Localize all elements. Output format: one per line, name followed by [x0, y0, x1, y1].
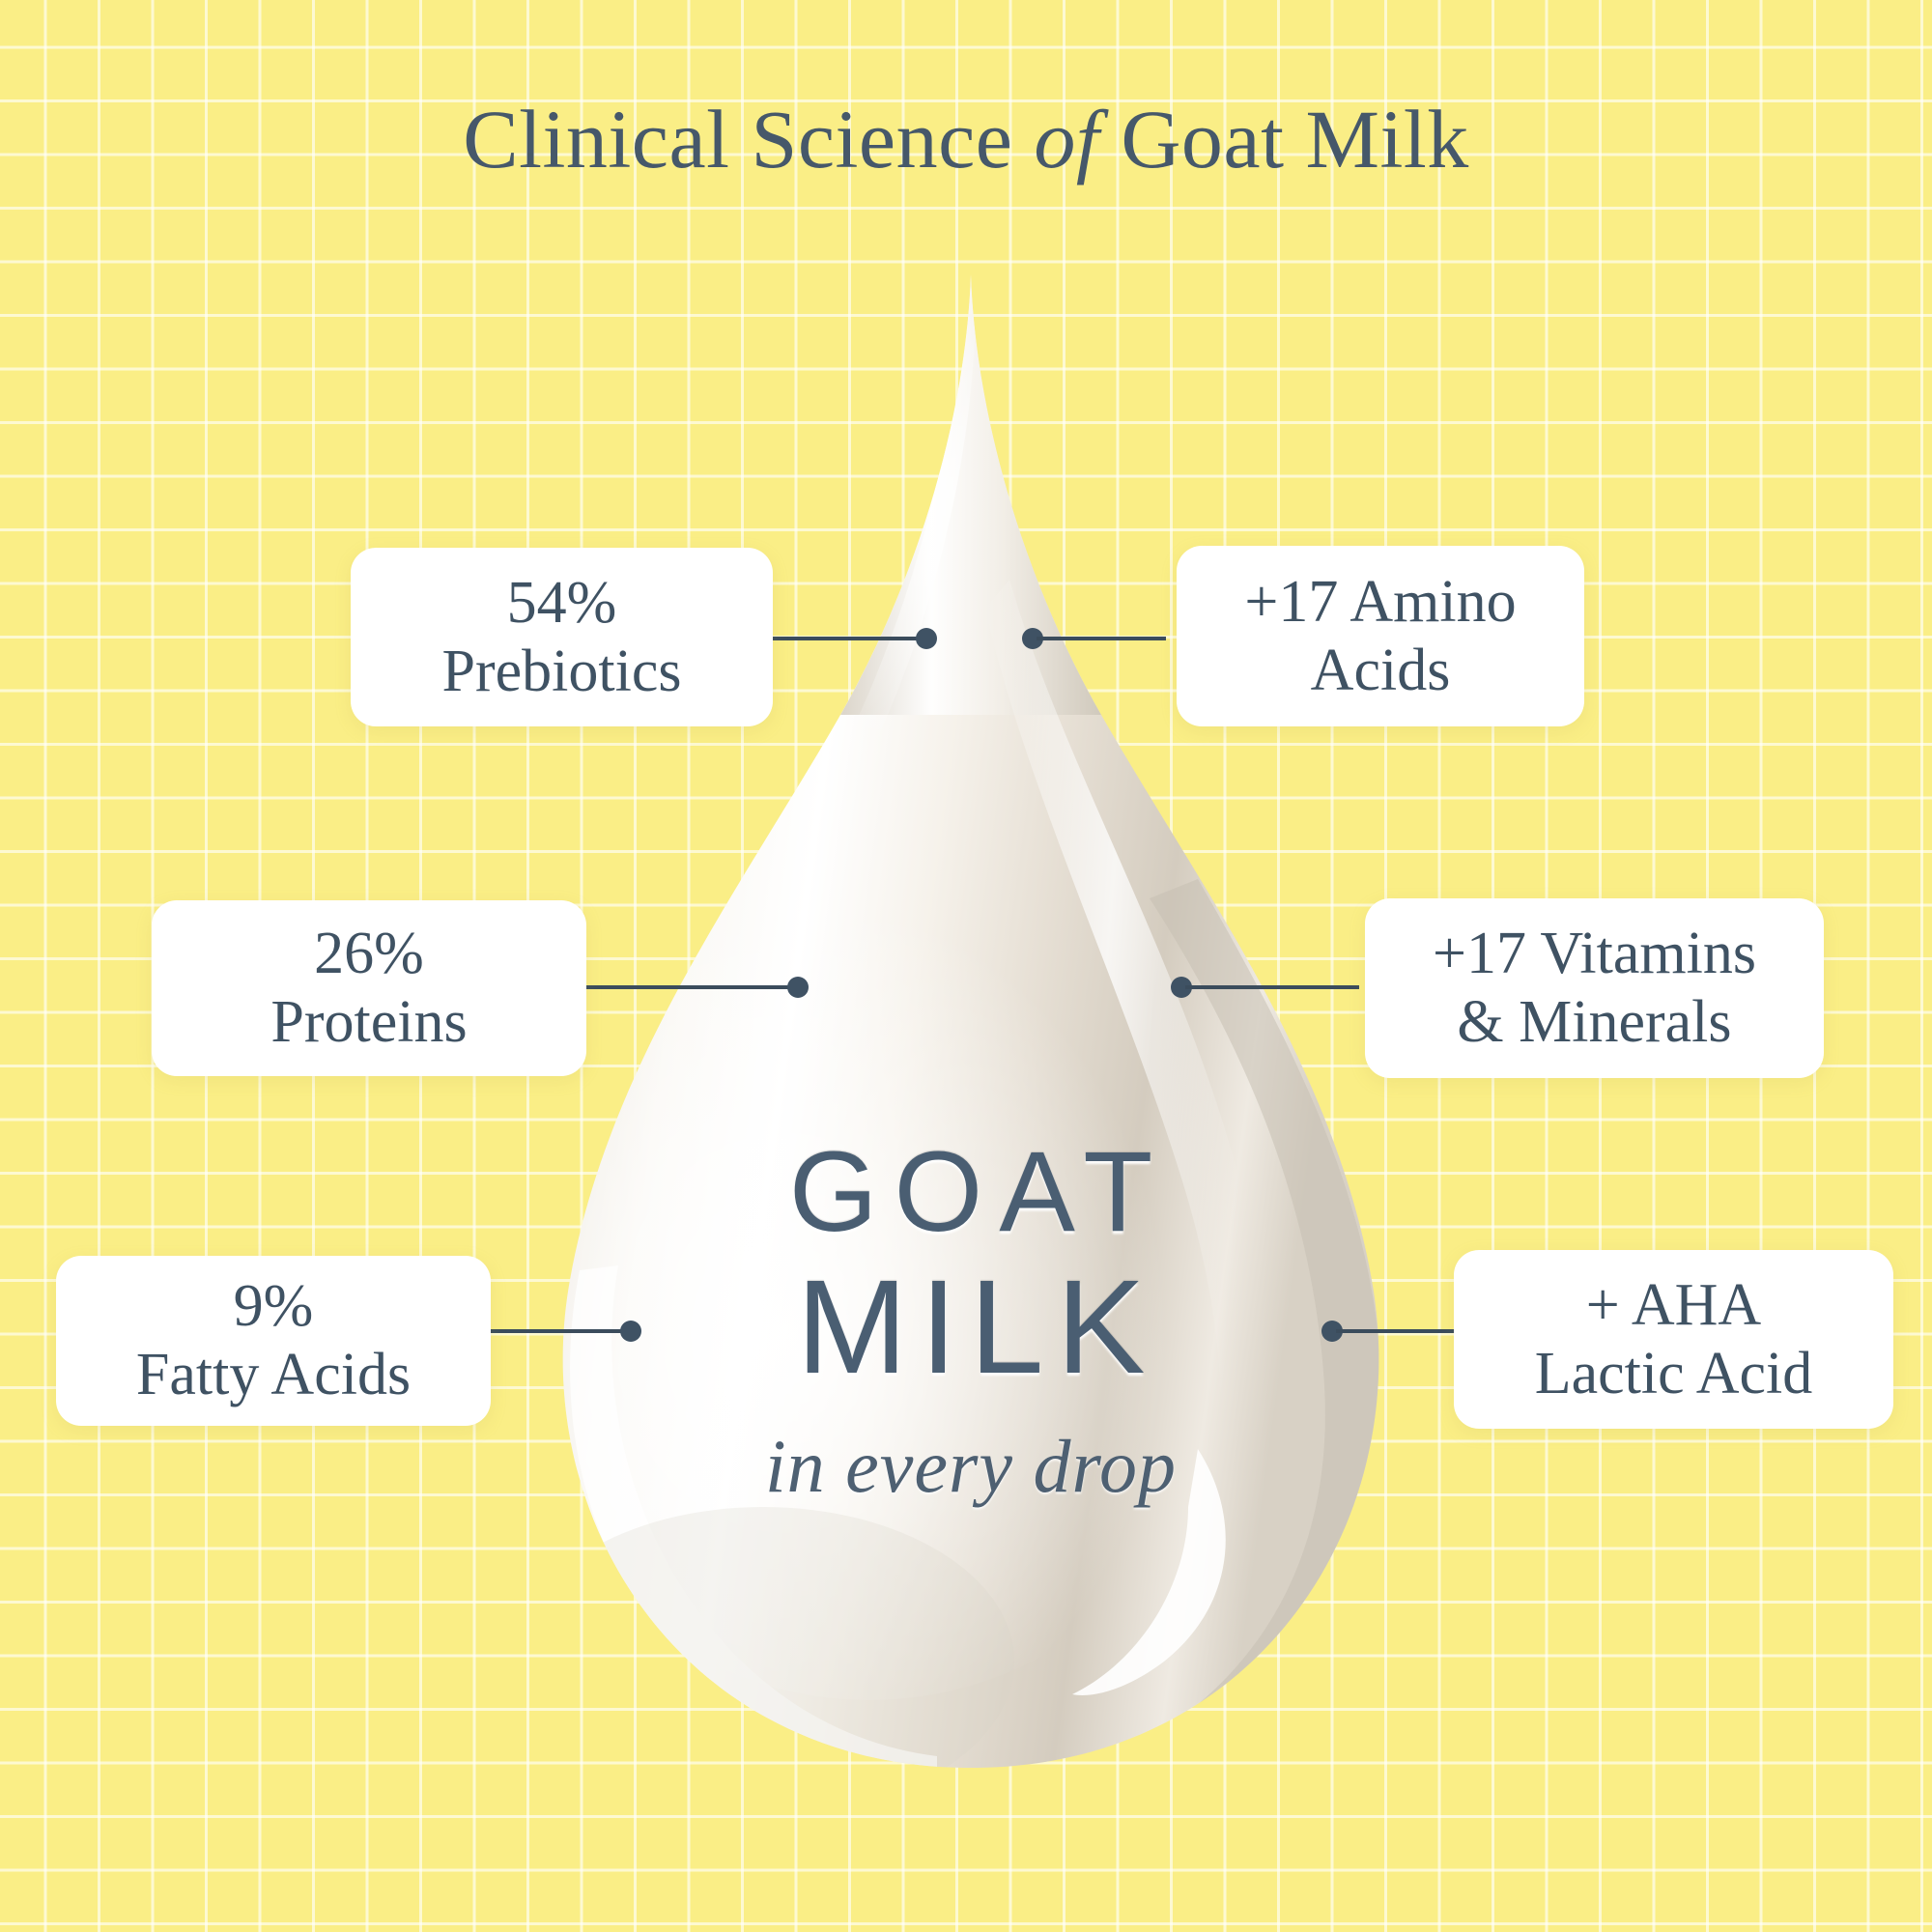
connector-prebiotics — [773, 628, 937, 649]
label-line-2: & Minerals — [1433, 988, 1756, 1057]
page-title: Clinical Science of Goat Milk — [0, 95, 1932, 185]
label-line-2: Fatty Acids — [136, 1341, 411, 1409]
label-line-1: 54% — [442, 569, 682, 638]
label-card-amino-acids[interactable]: +17 Amino Acids — [1177, 546, 1584, 726]
connector-vitamins — [1171, 977, 1369, 998]
connector-fatty-acids — [488, 1321, 652, 1342]
label-card-proteins[interactable]: 26% Proteins — [152, 900, 586, 1076]
label-line-2: Proteins — [270, 988, 467, 1057]
label-line-1: 26% — [270, 920, 467, 988]
title-italic-word: of — [1034, 93, 1099, 185]
connector-line — [586, 985, 791, 989]
connector-line — [1037, 637, 1166, 640]
connector-aha — [1321, 1321, 1462, 1342]
label-line-2: Lactic Acid — [1535, 1340, 1812, 1408]
label-line-1: 9% — [136, 1272, 411, 1341]
label-line-1: +17 Amino — [1244, 568, 1516, 637]
label-line-2: Prebiotics — [442, 638, 682, 706]
connector-line — [488, 1329, 624, 1333]
label-card-prebiotics[interactable]: 54% Prebiotics — [351, 548, 773, 726]
title-part-2: Goat Milk — [1099, 93, 1468, 185]
connector-dot — [916, 628, 937, 649]
milk-droplet-illustration — [522, 261, 1420, 1806]
label-line-2: Acids — [1244, 637, 1516, 705]
label-line-1: + AHA — [1535, 1271, 1812, 1340]
label-line-1: +17 Vitamins — [1433, 920, 1756, 988]
connector-dot — [620, 1321, 641, 1342]
title-part-1: Clinical Science — [463, 93, 1034, 185]
label-card-vitamins[interactable]: +17 Vitamins & Minerals — [1365, 898, 1824, 1078]
connector-amino-acids — [1022, 628, 1177, 649]
label-card-fatty-acids[interactable]: 9% Fatty Acids — [56, 1256, 491, 1426]
label-card-aha[interactable]: + AHA Lactic Acid — [1454, 1250, 1893, 1429]
connector-dot — [787, 977, 809, 998]
infographic-canvas: Clinical Science of Goat Milk — [0, 0, 1932, 1932]
connector-proteins — [586, 977, 828, 998]
connector-line — [1185, 985, 1359, 989]
connector-line — [1336, 1329, 1456, 1333]
connector-line — [773, 637, 920, 640]
